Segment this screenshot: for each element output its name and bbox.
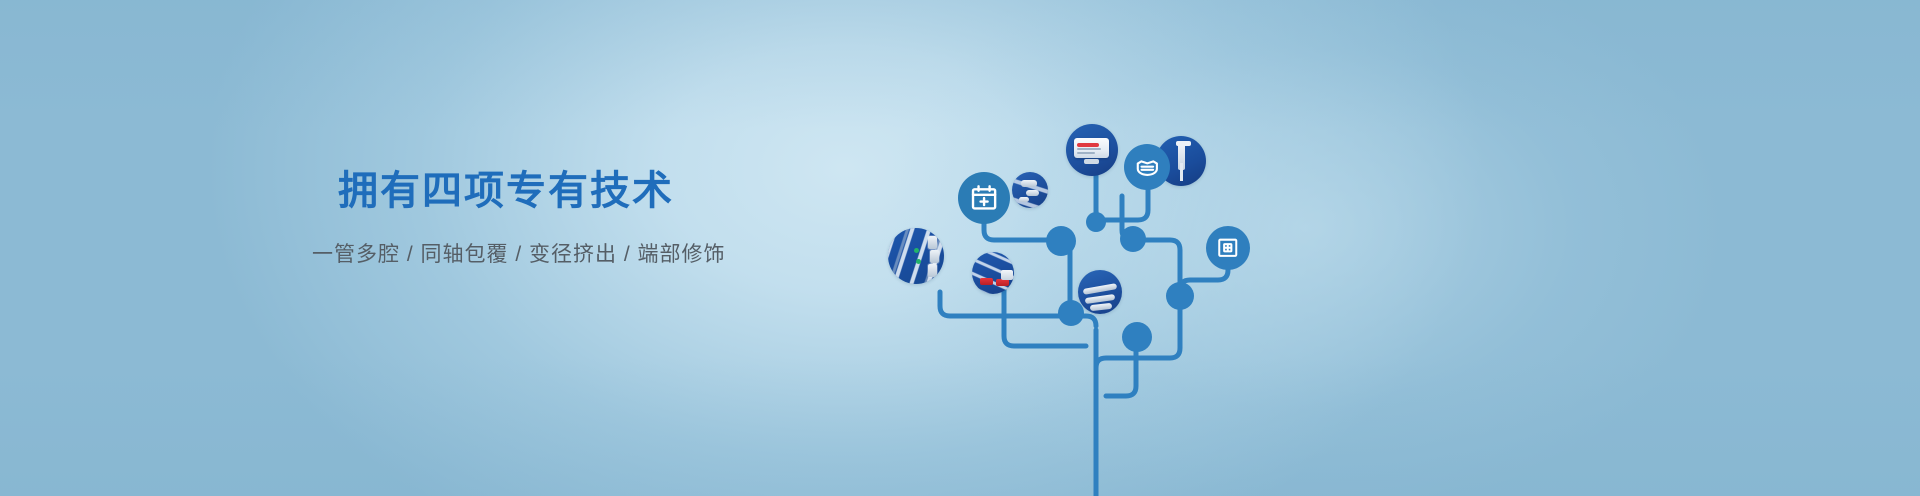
- connector-dot-b[interactable]: [1120, 226, 1146, 252]
- catheter-array-photo: [888, 228, 944, 284]
- tube-set-photo: [1078, 270, 1122, 314]
- node-catheter-photo[interactable]: [888, 228, 944, 284]
- connector-dot-f[interactable]: [1086, 212, 1106, 232]
- hospital-building-icon: [1215, 235, 1241, 261]
- connector-dot-e[interactable]: [1058, 300, 1084, 326]
- node-tubeset-photo[interactable]: [1078, 270, 1122, 314]
- node-connector-photo[interactable]: [1012, 172, 1048, 208]
- node-hospital-icon[interactable]: [1206, 226, 1250, 270]
- node-monitor-photo[interactable]: [1066, 124, 1118, 176]
- node-coil-photo[interactable]: [972, 252, 1014, 294]
- calendar-plus-icon: [969, 183, 999, 213]
- node-mask-icon[interactable]: [1124, 144, 1170, 190]
- connector-dot-d[interactable]: [1122, 322, 1152, 352]
- connector-dot-a[interactable]: [1046, 226, 1076, 256]
- mask-icon: [1134, 154, 1161, 181]
- node-calendar-plus-icon[interactable]: [958, 172, 1010, 224]
- connector-dot-c[interactable]: [1166, 282, 1194, 310]
- coiled-tubing-photo: [972, 252, 1014, 294]
- connector-assembly-photo: [1012, 172, 1048, 208]
- medical-monitor-photo: [1066, 124, 1118, 176]
- technology-tree-diagram: [880, 100, 1300, 496]
- hero-banner: 拥有四项专有技术 一管多腔 / 同轴包覆 / 变径挤出 / 端部修饰: [0, 0, 1920, 496]
